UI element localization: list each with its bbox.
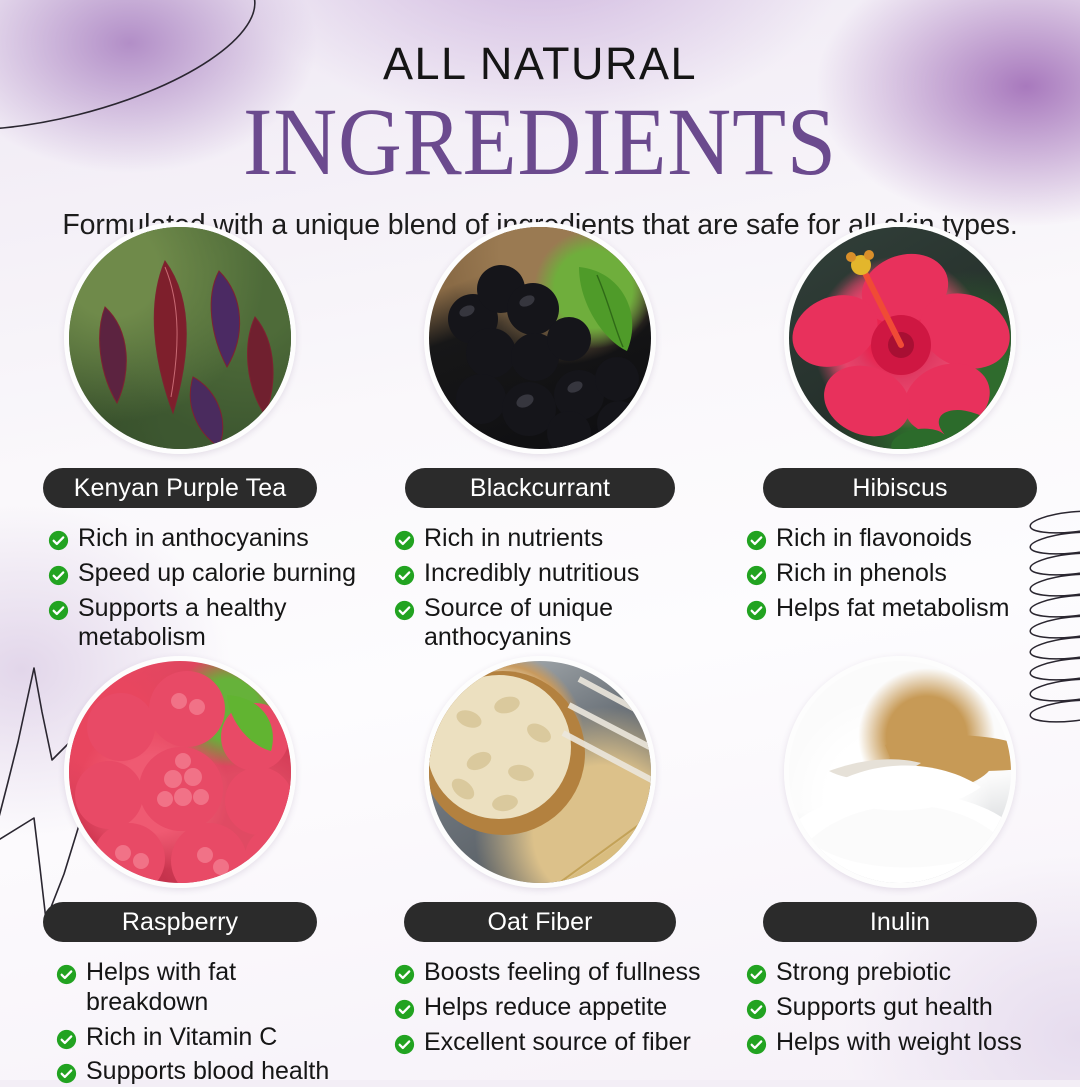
thumb-wrap <box>0 222 360 454</box>
benefit-text: Rich in nutrients <box>424 524 603 554</box>
benefit-item: Helps with fat breakdown <box>56 958 360 1018</box>
check-circle-icon <box>56 1063 77 1084</box>
benefit-item: Helps reduce appetite <box>394 993 720 1023</box>
benefit-item: Supports a healthy metabolism <box>48 594 360 654</box>
benefit-item: Excellent source of fiber <box>394 1028 720 1058</box>
check-circle-icon <box>746 964 767 985</box>
check-circle-icon <box>394 600 415 621</box>
ingredient-card-blackcurrant: Blackcurrant Rich in nutrients Incredibl… <box>360 222 720 652</box>
benefit-text: Incredibly nutritious <box>424 559 639 589</box>
benefit-text: Strong prebiotic <box>776 958 951 988</box>
powder-spoon-shapes <box>789 661 1016 888</box>
benefit-text: Excellent source of fiber <box>424 1028 691 1058</box>
benefit-list: Helps with fat breakdown Rich in Vitamin… <box>0 958 360 1087</box>
check-circle-icon <box>48 565 69 586</box>
check-circle-icon <box>48 530 69 551</box>
benefit-text: Rich in Vitamin C <box>86 1023 277 1053</box>
benefit-list: Boosts feeling of fullness Helps reduce … <box>360 958 720 1057</box>
kicker-text: ALL NATURAL <box>0 38 1080 90</box>
benefit-text: Source of unique anthocyanins <box>424 594 720 654</box>
benefit-item: Speed up calorie burning <box>48 559 360 589</box>
ingredient-name-pill: Blackcurrant <box>405 468 675 508</box>
benefit-item: Boosts feeling of fullness <box>394 958 720 988</box>
page-title: INGREDIENTS <box>43 96 1037 187</box>
benefit-text: Helps with fat breakdown <box>86 958 360 1018</box>
benefit-text: Rich in flavonoids <box>776 524 972 554</box>
benefit-item: Incredibly nutritious <box>394 559 720 589</box>
benefit-text: Supports blood health <box>86 1057 329 1087</box>
check-circle-icon <box>394 530 415 551</box>
ingredient-name-pill: Kenyan Purple Tea <box>43 468 317 508</box>
ingredient-name-pill: Raspberry <box>43 902 317 942</box>
check-circle-icon <box>56 1029 77 1050</box>
benefit-item: Rich in Vitamin C <box>56 1023 360 1053</box>
benefit-text: Helps fat metabolism <box>776 594 1009 624</box>
check-circle-icon <box>56 964 77 985</box>
benefit-text: Speed up calorie burning <box>78 559 356 589</box>
raspberry-shapes <box>69 661 296 888</box>
leaf-shapes <box>69 227 296 454</box>
benefit-list: Strong prebiotic Supports gut health Hel… <box>720 958 1080 1057</box>
ingredient-card-oat-fiber: Oat Fiber Boosts feeling of fullness Hel… <box>360 656 720 1086</box>
thumb-wrap <box>720 656 1080 888</box>
check-circle-icon <box>746 530 767 551</box>
ingredient-image-oat-fiber <box>424 656 656 888</box>
flower-shapes <box>789 227 1016 454</box>
ingredient-name-pill: Hibiscus <box>763 468 1037 508</box>
benefit-item: Strong prebiotic <box>746 958 1080 988</box>
check-circle-icon <box>48 600 69 621</box>
benefit-item: Rich in nutrients <box>394 524 720 554</box>
check-circle-icon <box>746 565 767 586</box>
benefit-text: Helps with weight loss <box>776 1028 1022 1058</box>
benefit-item: Source of unique anthocyanins <box>394 594 720 654</box>
benefit-item: Supports blood health <box>56 1057 360 1087</box>
ingredient-image-raspberry <box>64 656 296 888</box>
benefit-item: Rich in anthocyanins <box>48 524 360 554</box>
thumb-wrap <box>360 656 720 888</box>
check-circle-icon <box>394 565 415 586</box>
ingredient-image-inulin <box>784 656 1016 888</box>
benefit-item: Helps fat metabolism <box>746 594 1080 624</box>
check-circle-icon <box>746 1034 767 1055</box>
thumb-wrap <box>720 222 1080 454</box>
benefit-list: Rich in flavonoids Rich in phenols Helps… <box>720 524 1080 623</box>
benefit-text: Boosts feeling of fullness <box>424 958 701 988</box>
benefit-item: Rich in phenols <box>746 559 1080 589</box>
ingredients-grid: Kenyan Purple Tea Rich in anthocyanins S… <box>0 222 1080 1086</box>
berry-shapes <box>429 227 656 454</box>
check-circle-icon <box>746 999 767 1020</box>
ingredient-name-pill: Inulin <box>763 902 1037 942</box>
benefit-item: Helps with weight loss <box>746 1028 1080 1058</box>
benefit-list: Rich in nutrients Incredibly nutritious … <box>360 524 720 653</box>
benefit-text: Supports gut health <box>776 993 993 1023</box>
ingredient-name-pill: Oat Fiber <box>404 902 676 942</box>
benefit-text: Helps reduce appetite <box>424 993 667 1023</box>
check-circle-icon <box>394 999 415 1020</box>
oat-shapes <box>429 661 656 888</box>
check-circle-icon <box>394 964 415 985</box>
ingredient-image-kenyan-purple-tea <box>64 222 296 454</box>
benefit-text: Supports a healthy metabolism <box>78 594 360 654</box>
ingredient-image-blackcurrant <box>424 222 656 454</box>
benefit-item: Rich in flavonoids <box>746 524 1080 554</box>
page-header: ALL NATURAL INGREDIENTS Formulated with … <box>0 0 1080 242</box>
ingredient-card-raspberry: Raspberry Helps with fat breakdown Rich … <box>0 656 360 1086</box>
benefit-text: Rich in phenols <box>776 559 947 589</box>
check-circle-icon <box>746 600 767 621</box>
ingredient-image-hibiscus <box>784 222 1016 454</box>
benefit-item: Supports gut health <box>746 993 1080 1023</box>
thumb-wrap <box>0 656 360 888</box>
thumb-wrap <box>360 222 720 454</box>
check-circle-icon <box>394 1034 415 1055</box>
benefit-text: Rich in anthocyanins <box>78 524 309 554</box>
ingredient-card-kenyan-purple-tea: Kenyan Purple Tea Rich in anthocyanins S… <box>0 222 360 652</box>
benefit-list: Rich in anthocyanins Speed up calorie bu… <box>0 524 360 653</box>
ingredient-card-inulin: Inulin Strong prebiotic Supports gut hea… <box>720 656 1080 1086</box>
ingredient-card-hibiscus: Hibiscus Rich in flavonoids Rich in phen… <box>720 222 1080 652</box>
